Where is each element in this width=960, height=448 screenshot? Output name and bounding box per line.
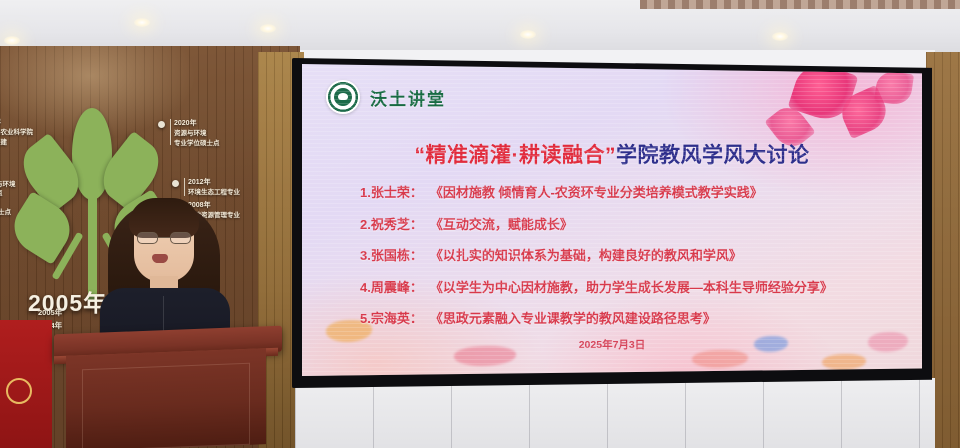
ceiling-downlight: [134, 18, 150, 27]
timeline-dot: [158, 121, 165, 128]
timeline-right-entry: 2020年 资源与环境 专业学位硕士点: [174, 119, 220, 148]
ceiling-downlight: [4, 36, 20, 45]
talk-title: 《互动交流，赋能成长》: [430, 214, 573, 233]
talk-speaker: 2.祝秀芝：: [360, 214, 423, 233]
talks-list: 1.张士荣： 《因材施教 倾情育人-农资环专业分类培养模式教学实践》 2.祝秀芝…: [360, 182, 902, 340]
talk-item: 4.周震峰： 《以学生为中心因材施教，助力学生成长发展—本科生导师经验分享》: [360, 277, 902, 296]
talk-speaker: 1.张士荣：: [360, 182, 423, 201]
talk-speaker: 3.张国栋：: [360, 245, 423, 264]
timeline-dot: [172, 180, 179, 187]
talk-item: 2.祝秀芝： 《互动交流，赋能成长》: [360, 214, 902, 233]
title-quoted: “精准滴灌·耕读融合”: [415, 144, 617, 167]
ceiling-trim: [640, 0, 960, 9]
talk-speaker: 4.周震峰：: [360, 277, 423, 296]
talk-item: 3.张国栋： 《以扎实的知识体系为基础，构建良好的教风和学风》: [360, 245, 902, 264]
led-screen[interactable]: 沃土讲堂 “精准滴灌·耕读融合”学院教风学风大讨论 1.张士荣： 《因材施教 倾…: [302, 64, 922, 376]
wall-sub-year: 2005年: [38, 307, 62, 318]
presentation-slide: 沃土讲堂 “精准滴灌·耕读融合”学院教风学风大讨论 1.张士荣： 《因材施教 倾…: [302, 64, 922, 376]
ceiling-downlight: [260, 24, 276, 33]
talk-speaker: 5.宗海英：: [360, 308, 423, 327]
lower-wall-panels: [295, 378, 935, 448]
slide-main-title: “精准滴灌·耕读融合”学院教风学风大讨论: [302, 139, 922, 169]
timeline-bar: [170, 119, 171, 145]
talk-title: 《因材施教 倾情育人-农资环专业分类培养模式教学实践》: [430, 182, 763, 201]
talk-item: 5.宗海英： 《思政元素融入专业课教学的教风建设路径思考》: [360, 308, 902, 327]
slide-header: 沃土讲堂: [326, 80, 446, 114]
timeline-left-entry: 年 国农业科学院 共建: [0, 118, 33, 147]
talk-title: 《以学生为中心因材施教，助力学生成长发展—本科生导师经验分享》: [430, 277, 833, 296]
slide-date: 2025年7月3日: [302, 337, 922, 352]
glasses-icon: [137, 232, 191, 244]
talk-title: 《思政元素融入专业课教学的教风建设路径思考》: [430, 308, 716, 327]
timeline-bar: [184, 178, 185, 196]
timeline-left-entry: 士点: [0, 208, 11, 217]
lecture-hall-scene: 年 国农业科学院 共建 与环境 点 士点 2020年 资源与环境 专业学位硕士点…: [0, 0, 960, 448]
talk-item: 1.张士荣： 《因材施教 倾情育人-农资环专业分类培养模式教学实践》: [360, 182, 902, 201]
title-rest: 学院教风学风大讨论: [616, 144, 810, 167]
timeline-right-entry: 2012年 环境生态工程专业: [188, 178, 240, 198]
university-emblem-icon: [326, 80, 360, 114]
talk-title: 《以扎实的知识体系为基础，构建良好的教风和学风》: [430, 245, 742, 264]
ceiling-downlight: [520, 30, 536, 39]
podium-body: [66, 348, 266, 448]
timeline-left-entry: 与环境 点: [0, 180, 16, 199]
speaker-mouth: [152, 254, 168, 263]
red-banner: [0, 320, 52, 448]
ceiling-downlight: [772, 32, 788, 41]
brand-title: 沃土讲堂: [370, 85, 446, 110]
